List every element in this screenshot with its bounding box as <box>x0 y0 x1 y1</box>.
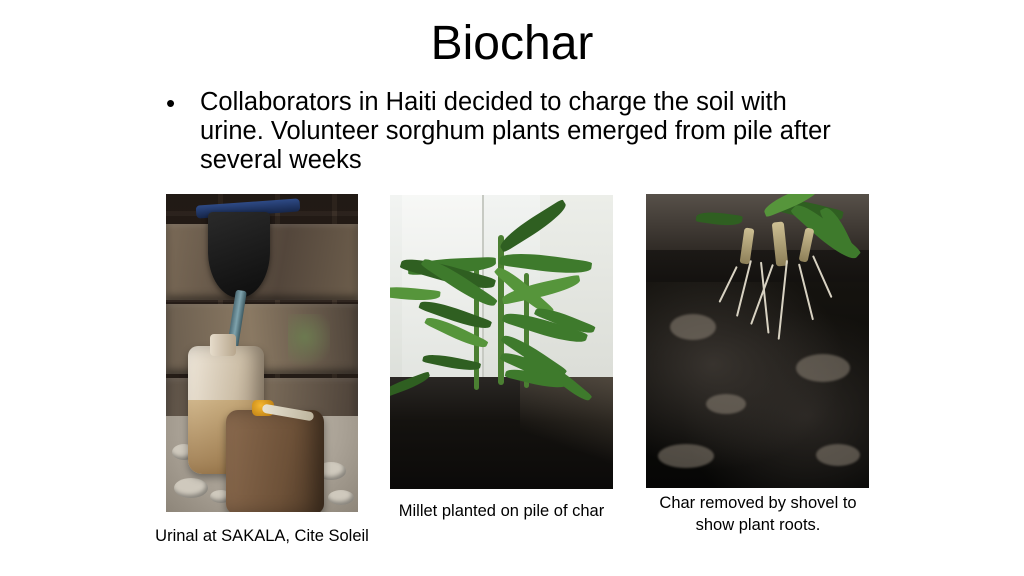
char-highlight <box>816 444 860 466</box>
bullet-text: Collaborators in Haiti decided to charge… <box>200 88 856 175</box>
page-title: Biochar <box>0 16 1024 72</box>
stone <box>328 490 354 505</box>
caption-urinal: Urinal at SAKALA, Cite Soleil <box>150 525 374 547</box>
bullet-marker: • <box>166 88 200 118</box>
caption-char-roots: Char removed by shovel to show plant roo… <box>640 492 876 536</box>
slide: Biochar • Collaborators in Haiti decided… <box>0 0 1024 576</box>
char-highlight <box>796 354 850 382</box>
char-highlight <box>520 377 613 489</box>
char-roots-photo <box>646 194 869 488</box>
char-highlight <box>658 444 714 468</box>
caption-millet: Millet planted on pile of char <box>390 500 613 522</box>
millet-photo <box>390 195 613 489</box>
jerry-can-dark <box>226 410 324 512</box>
urinal-photo <box>166 194 358 512</box>
list-item: • Collaborators in Haiti decided to char… <box>166 88 856 175</box>
char-highlight <box>670 314 716 340</box>
bullet-list: • Collaborators in Haiti decided to char… <box>166 88 856 175</box>
moss-patch <box>288 314 330 372</box>
char-highlight <box>706 394 746 414</box>
jerry-can-neck <box>210 334 236 356</box>
stone <box>174 478 208 498</box>
